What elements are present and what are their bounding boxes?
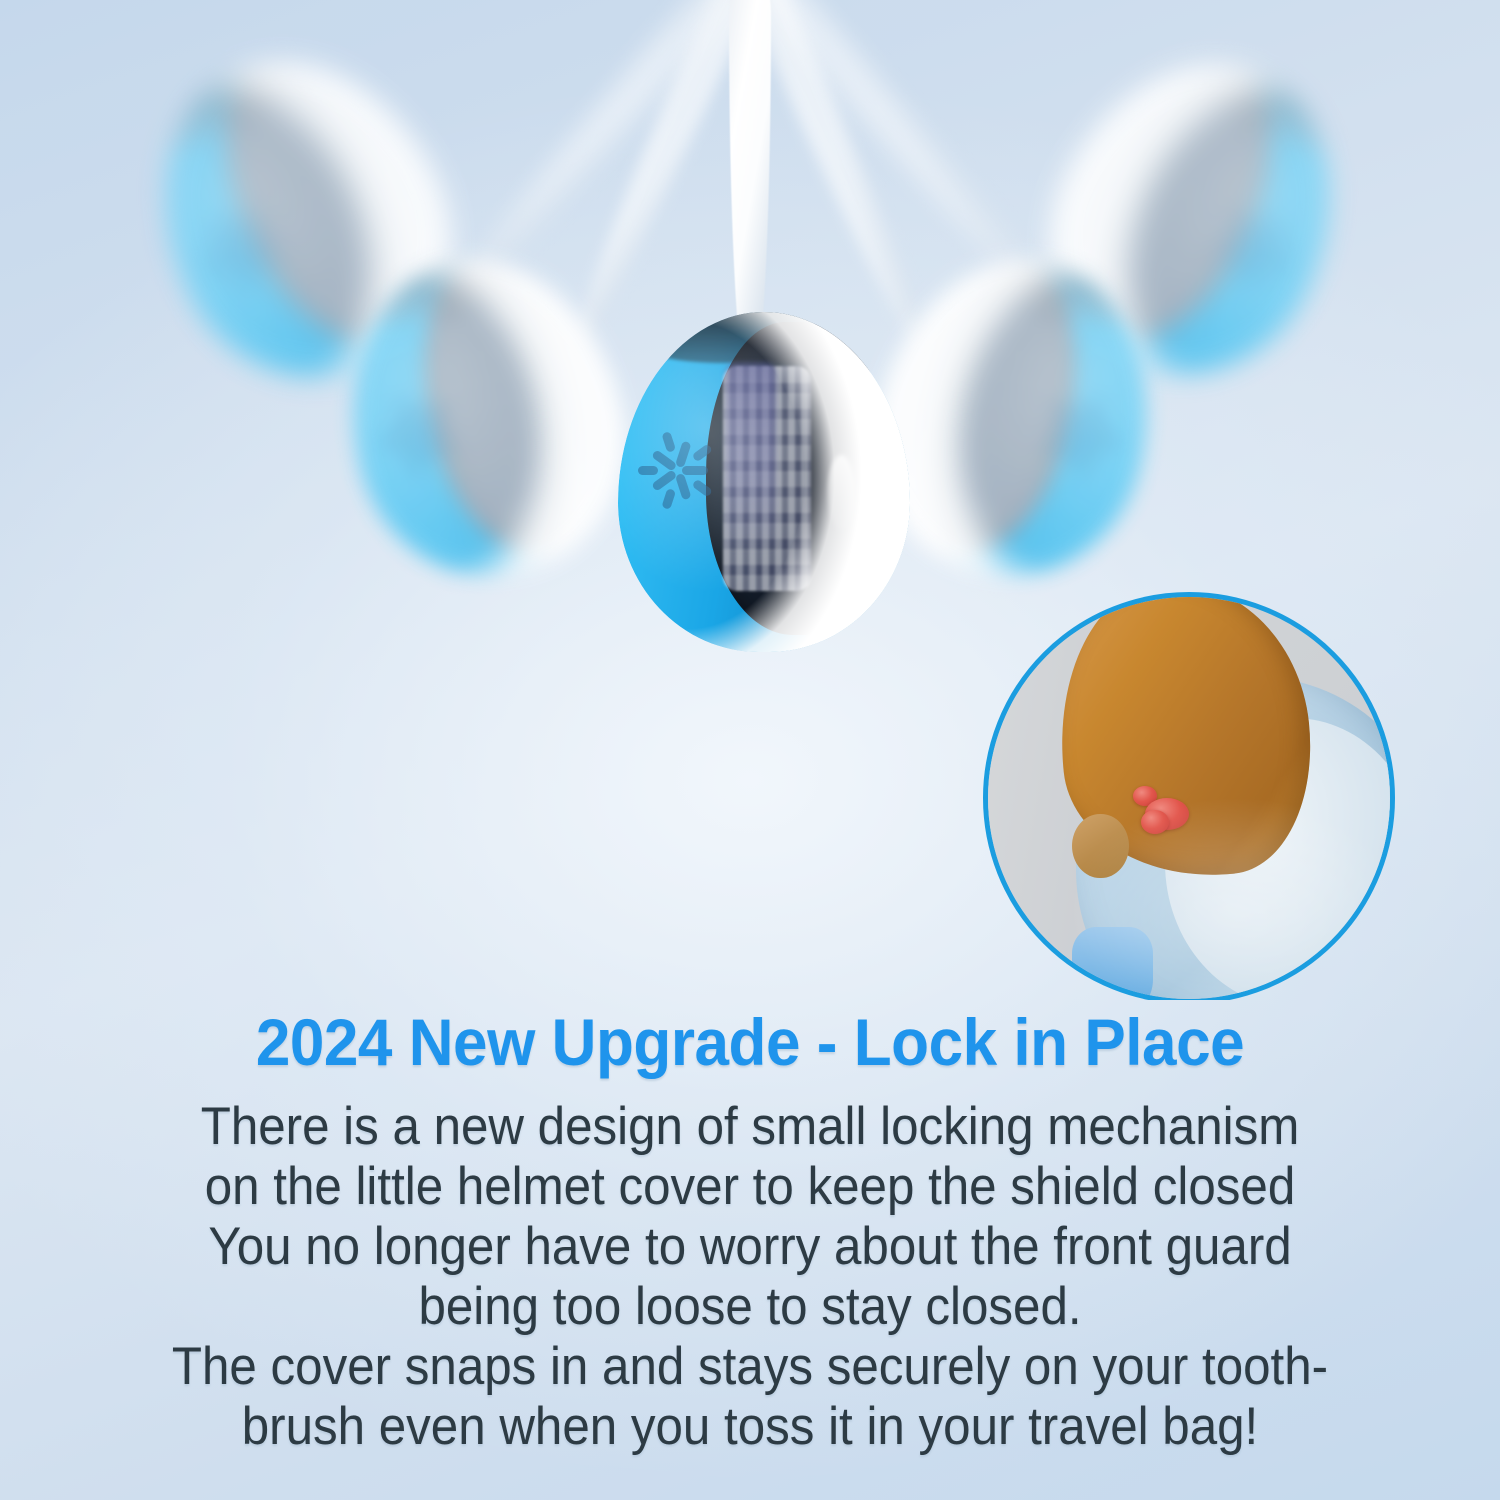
lock-mechanism-detail-callout [983, 592, 1395, 1000]
body-line: You no longer have to worry about the fr… [53, 1217, 1448, 1277]
body-line: on the little helmet cover to keep the s… [53, 1157, 1448, 1217]
headline: 2024 New Upgrade - Lock in Place [45, 1005, 1455, 1079]
toothbrush-head-with-blue-helmet-cover [618, 312, 910, 652]
body-copy: There is a new design of small locking m… [53, 1097, 1448, 1457]
body-line: The cover snaps in and stays securely on… [53, 1337, 1448, 1397]
body-line: There is a new design of small locking m… [53, 1097, 1448, 1157]
body-line: being too loose to stay closed. [53, 1277, 1448, 1337]
hero-product-stage [0, 0, 1500, 1000]
callout-gloss [988, 597, 1390, 999]
marketing-copy: 2024 New Upgrade - Lock in Place There i… [0, 1005, 1500, 1457]
product-marketing-image: 2024 New Upgrade - Lock in Place There i… [0, 0, 1500, 1500]
body-line: brush even when you toss it in your trav… [53, 1397, 1448, 1457]
white-edge-rim [618, 312, 910, 652]
